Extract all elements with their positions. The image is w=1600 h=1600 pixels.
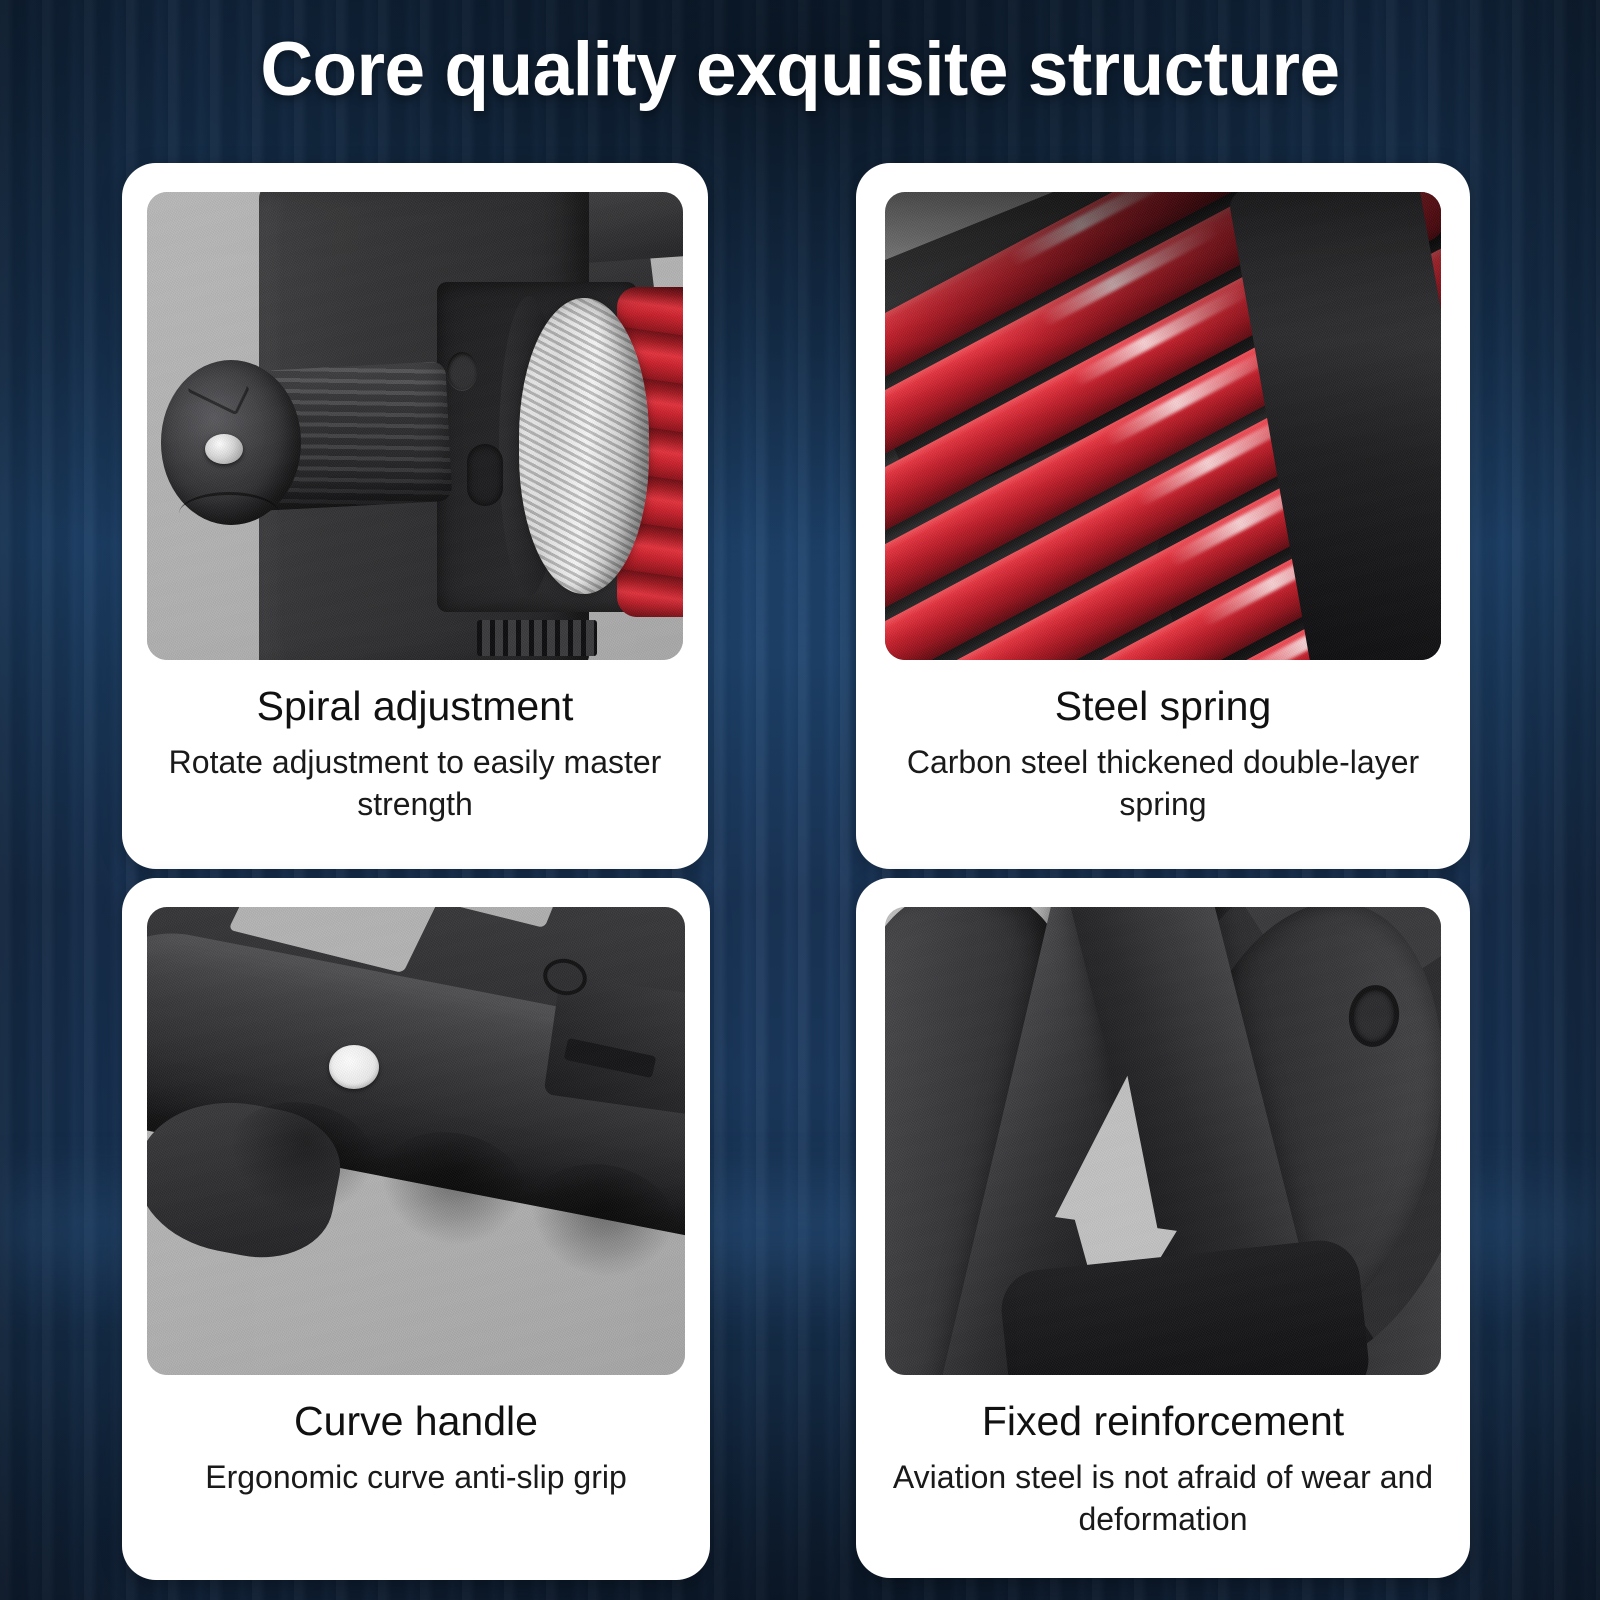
- infographic-stage: Core quality exquisite structure Spiral …: [0, 0, 1600, 1600]
- card-description: Aviation steel is not afraid of wear and…: [874, 1457, 1452, 1540]
- card-description: Ergonomic curve anti-slip grip: [140, 1457, 692, 1499]
- card-heading: Fixed reinforcement: [874, 1399, 1452, 1445]
- feature-card-steel-spring[interactable]: Steel spring Carbon steel thickened doub…: [856, 163, 1470, 869]
- card-description: Rotate adjustment to easily master stren…: [140, 742, 690, 825]
- card-heading: Spiral adjustment: [140, 684, 690, 730]
- red-steel-spring-photo: [885, 192, 1441, 660]
- curved-handle-grip-photo: [147, 907, 685, 1375]
- card-caption: Fixed reinforcement Aviation steel is no…: [856, 1375, 1470, 1540]
- feature-card-curve-handle[interactable]: Curve handle Ergonomic curve anti-slip g…: [122, 878, 710, 1580]
- spiral-adjustment-knob-photo: [147, 192, 683, 660]
- card-caption: Curve handle Ergonomic curve anti-slip g…: [122, 1375, 710, 1499]
- card-description: Carbon steel thickened double-layer spri…: [874, 742, 1452, 825]
- feature-card-spiral-adjustment[interactable]: Spiral adjustment Rotate adjustment to e…: [122, 163, 708, 869]
- page-title: Core quality exquisite structure: [32, 26, 1568, 113]
- card-caption: Spiral adjustment Rotate adjustment to e…: [122, 660, 708, 825]
- card-heading: Steel spring: [874, 684, 1452, 730]
- card-heading: Curve handle: [140, 1399, 692, 1445]
- feature-card-fixed-reinforcement[interactable]: Fixed reinforcement Aviation steel is no…: [856, 878, 1470, 1578]
- fixed-reinforcement-frame-photo: [885, 907, 1441, 1375]
- card-caption: Steel spring Carbon steel thickened doub…: [856, 660, 1470, 825]
